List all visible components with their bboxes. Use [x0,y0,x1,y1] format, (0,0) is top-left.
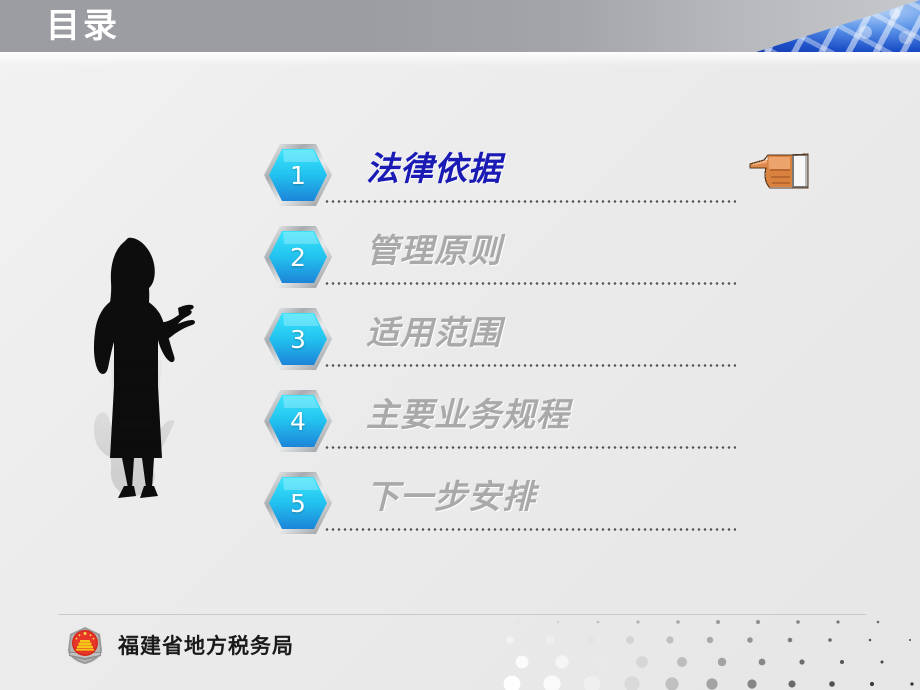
header-underglow [0,52,920,66]
agenda-dotted-rule [324,200,736,203]
page-title: 目录 [46,2,120,50]
agenda-label-2: 管理原则 [366,222,502,280]
hex-badge-3 [262,306,334,372]
agenda-item-3[interactable]: 3 适用范围 [262,302,762,384]
agenda-item-2[interactable]: 2 管理原则 [262,220,762,302]
agenda-list: 1 法律依据 2 管理原则 3 适用范围 [262,138,762,548]
slide-header-bar: 目录 [0,0,920,52]
agenda-label-5: 下一步安排 [366,468,536,526]
presentation-slide: 目录 [0,0,920,690]
agenda-label-4: 主要业务规程 [366,386,570,444]
hex-badge-4 [262,388,334,454]
agenda-label-3: 适用范围 [366,304,502,362]
hex-badge-2 [262,224,334,290]
hex-badge-1 [262,142,334,208]
tax-bureau-emblem [64,624,106,666]
agenda-dotted-rule [324,364,736,367]
businesswoman-silhouette [72,236,212,606]
agenda-label-1: 法律依据 [366,140,502,198]
agenda-dotted-rule [324,528,736,531]
agenda-dotted-rule [324,282,736,285]
agenda-dotted-rule [324,446,736,449]
hex-badge-5 [262,470,334,536]
keyboard-image [710,0,920,52]
footer-organization-name: 福建省地方税务局 [118,630,294,660]
agenda-item-1[interactable]: 1 法律依据 [262,138,762,220]
agenda-item-5[interactable]: 5 下一步安排 [262,466,762,548]
pointing-hand-left-icon [748,149,814,191]
footer: 福建省地方税务局 [64,620,294,670]
halftone-dot-pattern [500,610,920,690]
agenda-item-4[interactable]: 4 主要业务规程 [262,384,762,466]
silhouette-reflection [72,331,212,498]
footer-divider [58,614,866,615]
